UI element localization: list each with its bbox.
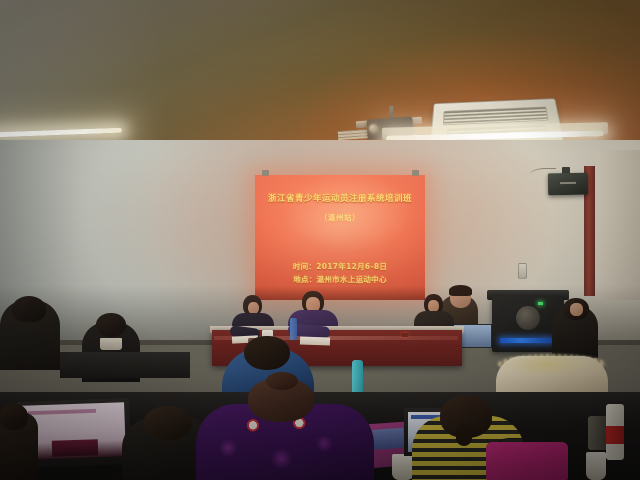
attendee-front-far-left-head bbox=[0, 404, 28, 430]
photo-conference-room: 浙江省青少年运动员注册系统培训班 （温州站） 时间：2017年12月6-8日 地… bbox=[0, 0, 640, 480]
slide-subtitle: （温州站） bbox=[255, 212, 425, 223]
audio-rack-blue-led bbox=[500, 338, 552, 343]
screen-mount-left bbox=[262, 170, 269, 176]
red-label-bottle-label bbox=[606, 426, 624, 444]
slide-time-line: 时间：2017年12月6-8日 bbox=[255, 261, 425, 272]
wall-speaker-icon bbox=[548, 173, 588, 196]
attendee-blue-hoodie-head bbox=[244, 336, 290, 370]
attendee-back-left-head bbox=[12, 296, 46, 322]
audio-rack-knob bbox=[516, 306, 540, 330]
projector-lens-icon bbox=[369, 124, 378, 133]
desk-mid-left bbox=[60, 352, 190, 378]
pink-bag bbox=[486, 442, 568, 480]
laptop-front-left-image bbox=[52, 439, 99, 457]
wireless-mouse-icon bbox=[401, 333, 409, 337]
slide-title: 浙江省青少年运动员注册系统培训班 bbox=[255, 192, 425, 204]
attendee-striped-shirt-ponytail bbox=[456, 424, 472, 446]
paper-stack-center bbox=[300, 336, 330, 345]
audio-rack-green-led bbox=[538, 302, 543, 305]
paper-cups-mid bbox=[100, 338, 122, 350]
attendee-front-left-head bbox=[144, 406, 192, 440]
blue-water-bottle-icon bbox=[290, 318, 297, 340]
ac-grill-upper bbox=[443, 107, 549, 126]
screen-bottom-shadow bbox=[255, 286, 425, 300]
wall-socket-icon bbox=[518, 263, 527, 279]
speaker-brand-mark bbox=[560, 182, 576, 184]
screen-mount-right bbox=[412, 170, 419, 176]
wall-corner-right bbox=[596, 150, 640, 300]
attendee-right-wall-face bbox=[570, 303, 583, 316]
paper-cup-right bbox=[586, 452, 606, 480]
attendee-mid-left-head bbox=[96, 313, 126, 337]
attendee-purple-jacket-hair-bun bbox=[266, 372, 298, 390]
slide-place-line: 地点：温州市水上运动中心 bbox=[255, 274, 425, 285]
paper-cup-foreground bbox=[392, 454, 414, 480]
attendee-back-right-hair bbox=[449, 285, 472, 296]
